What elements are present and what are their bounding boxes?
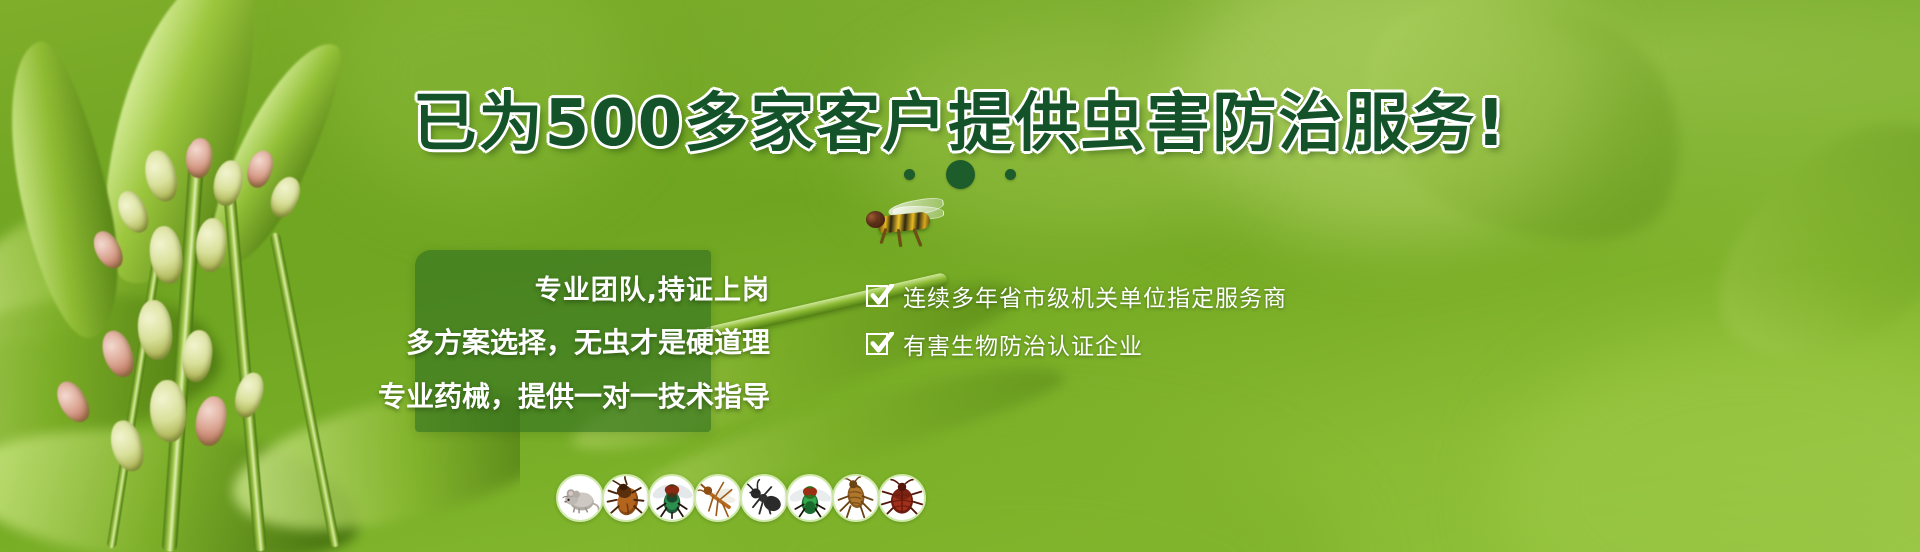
selling-point-3: 专业药械，提供一对一技术指导 [378,375,770,415]
dots-decoration [0,160,1920,189]
bedbug-icon[interactable] [878,474,926,522]
hoverfly-leg [897,229,902,247]
selling-points-text: 专业团队,持证上岗 多方案选择，无虫才是硬道理 专业药械，提供一对一技术指导 [336,250,796,432]
checkbox-checked-icon [866,283,892,309]
pest-icon-strip [556,474,925,522]
mosquito-icon[interactable] [694,474,742,522]
decor-dot-large [946,160,975,189]
housefly-icon[interactable] [648,474,696,522]
decor-dot-small [1005,169,1016,180]
hoverfly-icon [852,196,952,248]
flea-icon[interactable] [832,474,880,522]
plant-bud [230,369,269,421]
credential-row: 有害生物防治认证企业 [866,320,1287,368]
ant-icon[interactable] [740,474,788,522]
credential-row: 连续多年省市级机关单位指定服务商 [866,272,1287,320]
hoverfly-eye [867,213,878,225]
headline-text: 已为500多家客户提供虫害防治服务! [413,87,1508,161]
bokeh-blob [1500,330,1920,552]
selling-point-2: 多方案选择，无虫才是硬道理 [406,321,770,361]
mouse-icon[interactable] [556,474,604,522]
credential-label: 连续多年省市级机关单位指定服务商 [903,279,1287,313]
checkbox-checked-icon [866,331,892,357]
hoverfly-leg [913,228,923,247]
credential-label: 有害生物防治认证企业 [903,327,1143,361]
cockroach-icon[interactable] [602,474,650,522]
promo-banner: 已为500多家客户提供虫害防治服务! 专业团队,持证上岗 多方案选择，无虫才是硬… [0,0,1920,552]
selling-point-1: 专业团队,持证上岗 [535,268,770,307]
greenbottle-fly-icon[interactable] [786,474,834,522]
banner-headline: 已为500多家客户提供虫害防治服务! [0,72,1920,164]
credentials-list: 连续多年省市级机关单位指定服务商 有害生物防治认证企业 [866,272,1287,368]
decor-dot-small [904,169,915,180]
